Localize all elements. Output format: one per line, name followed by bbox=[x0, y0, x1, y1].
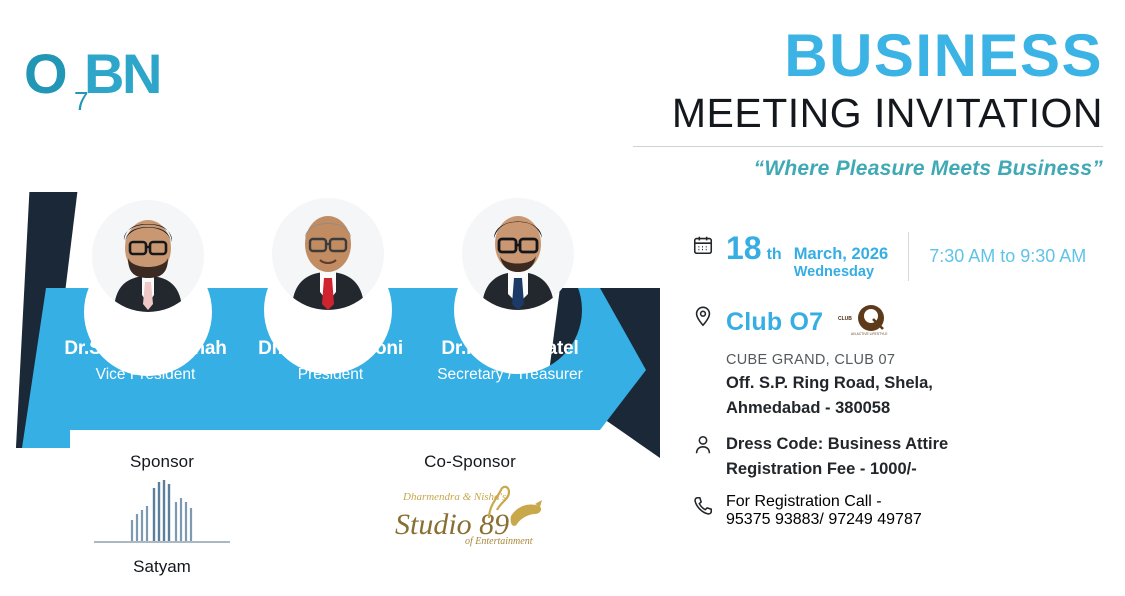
event-day-ordinal: th bbox=[767, 246, 782, 264]
portrait-siddharth-shah bbox=[92, 200, 204, 312]
venue-row: Club O7 CLUB AN ACTIVE LIFESTYLE bbox=[692, 303, 1122, 342]
studio89-logo: Dharmendra & Nisha's Studio 89 of Entert… bbox=[385, 472, 555, 557]
dress-code-row: Dress Code: Business Attire Registration… bbox=[692, 432, 1122, 483]
header-tagline: “Where Pleasure Meets Business” bbox=[633, 157, 1103, 181]
person-icon bbox=[692, 432, 726, 456]
sponsor-label: Sponsor bbox=[82, 452, 242, 472]
address-line-3: Ahmedabad - 380058 bbox=[726, 396, 1122, 421]
cosponsor-block: Co-Sponsor Dharmendra & Nisha's Studio 8… bbox=[385, 452, 555, 557]
cosponsor-label: Co-Sponsor bbox=[385, 452, 555, 472]
phone-numbers: 95375 93883/ 97249 49787 bbox=[726, 511, 1122, 529]
portrait-harshil-patel bbox=[462, 198, 574, 310]
venue-name: Club O7 bbox=[726, 308, 823, 337]
date-time-divider bbox=[908, 232, 909, 281]
registration-fee-text: Registration Fee - 1000/- bbox=[726, 457, 1122, 483]
header-title-meeting: MEETING INVITATION bbox=[633, 90, 1103, 137]
svg-text:O: O bbox=[24, 42, 66, 105]
svg-text:B: B bbox=[84, 42, 122, 105]
club-o7-logo: CLUB AN ACTIVE LIFESTYLE bbox=[837, 303, 897, 342]
sponsor-block: Sponsor bbox=[82, 452, 242, 577]
address-line-2: Off. S.P. Ring Road, Shela, bbox=[726, 371, 1122, 396]
event-day: 18 bbox=[726, 232, 762, 264]
obn-logo: O 7 B N bbox=[22, 38, 222, 118]
dress-code-text: Dress Code: Business Attire bbox=[726, 432, 1122, 458]
portrait-harshad-soni bbox=[272, 198, 384, 310]
header-divider bbox=[633, 146, 1103, 147]
event-month-year: March, 2026 bbox=[794, 245, 888, 263]
svg-text:AN ACTIVE LIFESTYLE: AN ACTIVE LIFESTYLE bbox=[851, 332, 888, 336]
invitation-page: O 7 B N BUSINESS MEETING INVITATION “Whe… bbox=[0, 0, 1125, 596]
svg-text:N: N bbox=[122, 42, 160, 105]
address-line-1: CUBE GRAND, CLUB 07 bbox=[726, 349, 1122, 371]
svg-text:Dharmendra & Nisha's: Dharmendra & Nisha's bbox=[402, 491, 506, 503]
date-time-row: 18 th March, 2026 Wednesday 7:30 AM to 9… bbox=[692, 232, 1122, 281]
svg-text:of Entertainment: of Entertainment bbox=[465, 536, 533, 547]
satyam-logo bbox=[82, 472, 242, 555]
header-block: BUSINESS MEETING INVITATION “Where Pleas… bbox=[633, 26, 1103, 181]
location-pin-icon bbox=[692, 303, 726, 327]
phone-icon bbox=[692, 493, 726, 517]
event-details: 18 th March, 2026 Wednesday 7:30 AM to 9… bbox=[692, 232, 1122, 529]
svg-text:CLUB: CLUB bbox=[838, 316, 852, 322]
event-time: 7:30 AM to 9:30 AM bbox=[929, 246, 1086, 267]
header-title-business: BUSINESS bbox=[633, 26, 1103, 86]
call-label: For Registration Call - bbox=[726, 493, 1122, 511]
venue-address: CUBE GRAND, CLUB 07 Off. S.P. Ring Road,… bbox=[726, 349, 1122, 421]
sponsor-name: Satyam bbox=[82, 557, 242, 577]
calendar-icon bbox=[692, 232, 726, 256]
event-weekday: Wednesday bbox=[794, 264, 888, 281]
contact-row: For Registration Call - 95375 93883/ 972… bbox=[692, 493, 1122, 529]
